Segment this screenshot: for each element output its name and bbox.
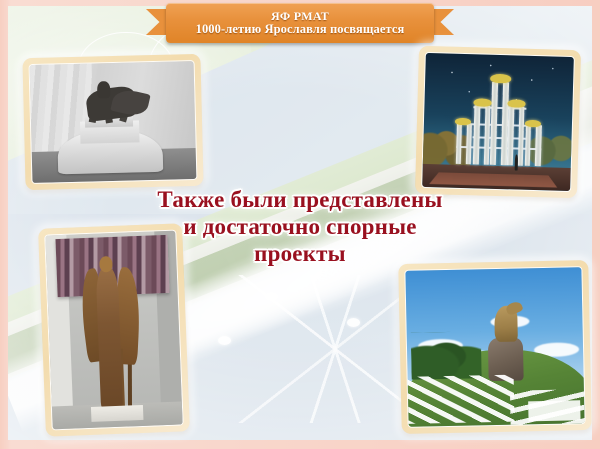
tw-dome-1 bbox=[490, 74, 511, 84]
photo-bear-monument[interactable] bbox=[398, 260, 592, 434]
main-heading: Также были представлены и достаточно спо… bbox=[0, 186, 600, 267]
tw-dome-4 bbox=[455, 117, 471, 125]
photo-bear-image bbox=[405, 267, 584, 427]
ribbon-title-line2: 1000-летию Ярославля посвящается bbox=[196, 23, 405, 36]
br-staircase-right bbox=[510, 389, 585, 425]
br-staircase-left bbox=[405, 375, 514, 424]
title-ribbon: ЯФ РМАТ 1000-летию Ярославля посвящается bbox=[150, 3, 450, 43]
main-heading-line2: и достаточно спорные bbox=[0, 213, 600, 240]
photo-equestrian-monument[interactable] bbox=[22, 54, 203, 190]
tw-dome-5 bbox=[525, 119, 541, 127]
tw-dome-3 bbox=[507, 99, 525, 108]
an-pedestal bbox=[91, 405, 144, 423]
br-trees bbox=[410, 332, 481, 380]
ribbon-plate: ЯФ РМАТ 1000-летию Ярославля посвящается bbox=[166, 3, 434, 43]
slide-canvas: ЯФ РМАТ 1000-летию Ярославля посвящается bbox=[0, 0, 600, 449]
photo-equestrian-image bbox=[30, 61, 197, 183]
main-heading-line3: проекты bbox=[0, 240, 600, 267]
ribbon-title-line1: ЯФ РМАТ bbox=[271, 10, 329, 23]
main-heading-line1: Также были представлены bbox=[0, 186, 600, 213]
tw-dome-2 bbox=[473, 99, 491, 108]
photo-tower-image bbox=[422, 53, 574, 191]
eq-rider-figure bbox=[97, 81, 111, 99]
photo-tower-project[interactable] bbox=[415, 46, 581, 198]
plan-node-3 bbox=[218, 336, 231, 345]
